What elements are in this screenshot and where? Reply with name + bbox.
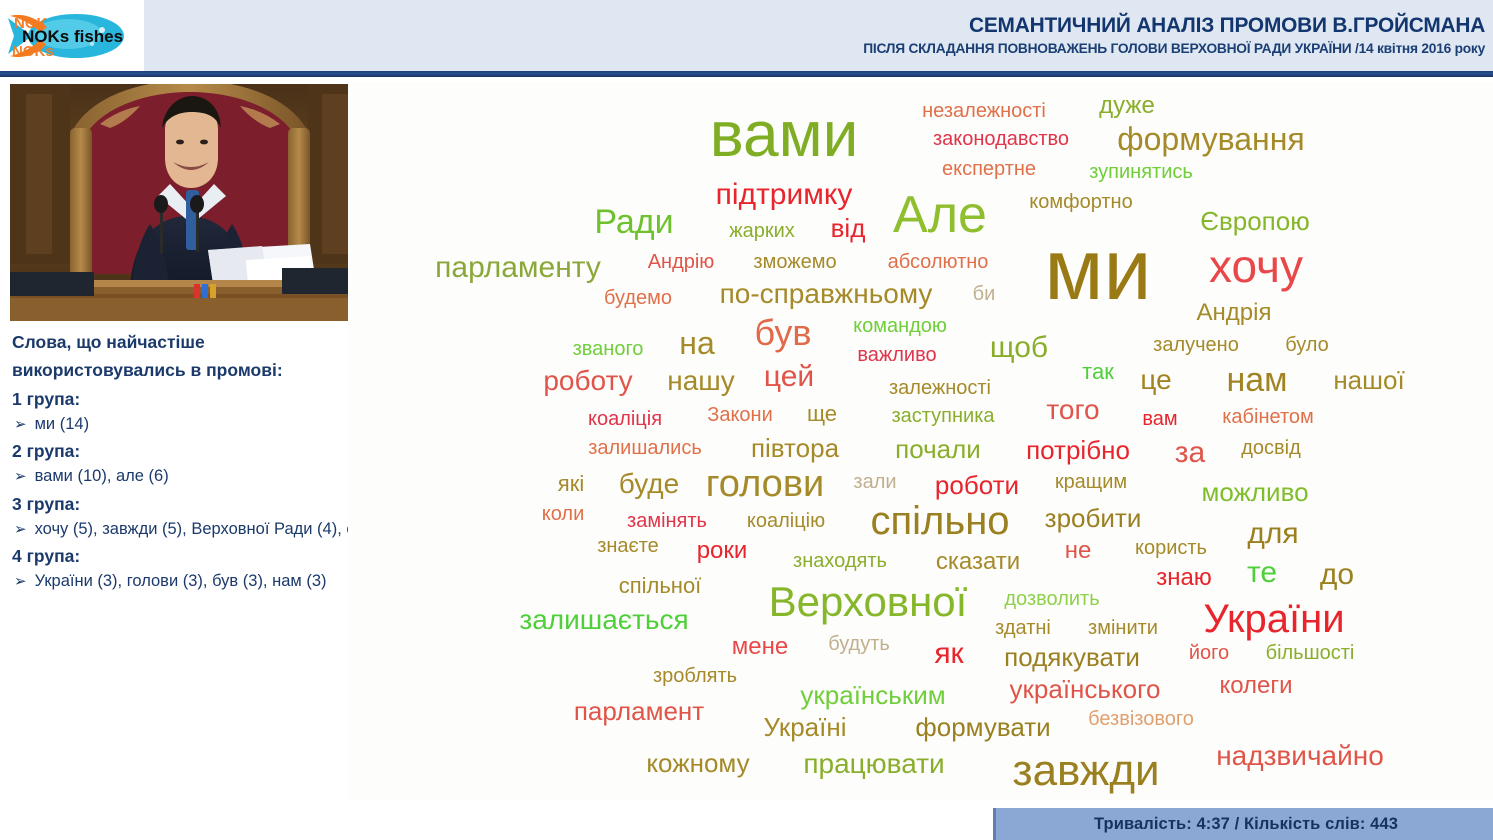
cloud-word: будуть: [828, 634, 890, 654]
footer-stats-text: Тривалість: 4:37 / Кількість слів: 443: [1094, 815, 1398, 834]
cloud-word: безвізового: [1088, 709, 1194, 729]
cloud-word: залишається: [519, 606, 688, 634]
speaker-photo-image: [10, 84, 368, 321]
cloud-word: коаліцію: [747, 511, 825, 531]
cloud-word: було: [1285, 335, 1329, 355]
cloud-word: більшості: [1266, 643, 1355, 663]
cloud-word: завжди: [1012, 749, 1159, 793]
cloud-word: командою: [853, 316, 947, 336]
cloud-word: би: [973, 284, 996, 304]
footer-stats-bar: Тривалість: 4:37 / Кількість слів: 443: [993, 808, 1493, 840]
cloud-word: важливо: [857, 345, 936, 365]
cloud-word: зали: [853, 472, 896, 492]
cloud-word: від: [831, 215, 866, 241]
cloud-word: хочу: [1209, 243, 1303, 289]
cloud-word: зробити: [1045, 505, 1142, 531]
cloud-word: почали: [895, 436, 981, 462]
cloud-word: ще: [807, 403, 837, 425]
cloud-word: голови: [706, 465, 824, 503]
cloud-word: підтримку: [716, 180, 853, 210]
header-divider: [0, 71, 1493, 77]
page-header: NOK NOKs NOKs fishes СЕМАНТИЧНИЙ АНАЛІЗ …: [0, 0, 1493, 71]
cloud-word: зможемо: [753, 252, 836, 272]
bullet-arrow-icon: ➢: [14, 520, 27, 540]
cloud-word: колеги: [1219, 674, 1292, 698]
cloud-word: можливо: [1201, 479, 1308, 505]
cloud-word: заступника: [891, 406, 994, 426]
cloud-word: парламенту: [435, 253, 601, 283]
word-cloud: мивамиАлехочузавждиВерховноїспільноУкраї…: [348, 82, 1493, 800]
cloud-word: які: [558, 473, 584, 495]
cloud-word: коаліція: [588, 409, 662, 429]
cloud-word: спільної: [619, 575, 702, 597]
cloud-word: дозволить: [1004, 589, 1099, 609]
cloud-word: залежності: [889, 378, 991, 398]
logo-wordmark: NOKs fishes: [22, 27, 123, 46]
cloud-word: вами: [710, 102, 859, 166]
cloud-word: України: [1203, 599, 1344, 639]
cloud-word: Україні: [763, 714, 846, 740]
cloud-word: сказати: [936, 550, 1020, 574]
cloud-word: щоб: [990, 333, 1048, 363]
bullet-arrow-icon: ➢: [14, 572, 27, 592]
cloud-word: парламент: [574, 698, 704, 724]
cloud-word: подякувати: [1004, 644, 1140, 670]
cloud-word: надзвичайно: [1216, 742, 1384, 770]
cloud-word: Європою: [1200, 208, 1309, 234]
cloud-word: до: [1320, 560, 1354, 590]
cloud-word: залучено: [1153, 335, 1239, 355]
cloud-word: званого: [573, 339, 644, 359]
cloud-word: зупинятись: [1089, 162, 1193, 182]
cloud-word: зроблять: [653, 666, 737, 686]
cloud-word: це: [1140, 366, 1171, 394]
cloud-word: експертне: [942, 159, 1036, 179]
cloud-word: кожному: [646, 750, 749, 776]
cloud-word: здатні: [995, 618, 1051, 638]
cloud-word: жарких: [729, 221, 795, 241]
page-title: СЕМАНТИЧНИЙ АНАЛІЗ ПРОМОВИ В.ГРОЙСМАНА: [969, 14, 1485, 37]
cloud-word: Андрію: [648, 252, 715, 272]
cloud-word: на: [679, 327, 714, 359]
noks-fishes-logo-icon: NOK NOKs NOKs fishes: [6, 6, 138, 66]
cloud-word: Андрія: [1197, 301, 1272, 325]
cloud-word: знаєте: [597, 536, 659, 556]
cloud-word: потрібно: [1026, 437, 1130, 463]
cloud-word: формування: [1117, 123, 1304, 155]
cloud-word: буде: [619, 470, 679, 498]
group-1-item-text: ми (14): [35, 414, 90, 435]
cloud-word: роботи: [935, 472, 1019, 498]
cloud-word: роки: [697, 539, 748, 563]
logo: NOK NOKs NOKs fishes: [0, 0, 144, 71]
cloud-word: нам: [1226, 363, 1287, 397]
cloud-word: змінити: [1088, 618, 1158, 638]
cloud-word: дуже: [1099, 94, 1155, 118]
bullet-arrow-icon: ➢: [14, 415, 27, 435]
cloud-word: не: [1065, 539, 1092, 563]
cloud-word: для: [1247, 519, 1298, 549]
cloud-word: так: [1082, 361, 1114, 383]
header-text-block: СЕМАНТИЧНИЙ АНАЛІЗ ПРОМОВИ В.ГРОЙСМАНА П…: [150, 0, 1489, 71]
cloud-word: кабінетом: [1222, 407, 1314, 427]
cloud-word: досвід: [1241, 438, 1301, 458]
cloud-word: по-справжньому: [720, 280, 933, 308]
cloud-word: абсолютно: [888, 252, 989, 272]
cloud-word: будемо: [604, 288, 672, 308]
group-4-item-text: України (3), голови (3), був (3), нам (3…: [35, 571, 327, 592]
cloud-word: нашої: [1333, 367, 1404, 393]
group-2-item-text: вами (10), але (6): [35, 466, 169, 487]
cloud-word: Ради: [594, 205, 673, 239]
cloud-word: був: [755, 315, 812, 351]
cloud-word: Але: [893, 189, 987, 241]
cloud-word: кращим: [1055, 472, 1127, 492]
cloud-word: того: [1046, 396, 1099, 424]
cloud-word: залишались: [588, 438, 702, 458]
cloud-word: Закони: [707, 405, 773, 425]
cloud-word: півтора: [751, 435, 839, 461]
cloud-word: працювати: [803, 750, 944, 778]
cloud-word: замінять: [627, 511, 707, 531]
cloud-word: комфортно: [1029, 192, 1132, 212]
cloud-word: законодавство: [933, 129, 1069, 149]
cloud-word: українського: [1010, 676, 1161, 702]
cloud-word: знаходять: [793, 551, 887, 571]
cloud-word: спільно: [870, 501, 1009, 541]
cloud-word: те: [1247, 558, 1277, 588]
cloud-word: роботу: [543, 367, 632, 395]
cloud-word: мене: [732, 635, 788, 659]
word-cloud-panel: мивамиАлехочузавждиВерховноїспільноУкраї…: [348, 82, 1493, 800]
cloud-word: нашу: [667, 367, 735, 395]
cloud-word: вам: [1142, 409, 1177, 429]
cloud-word: за: [1175, 438, 1205, 468]
cloud-word: знаю: [1156, 566, 1212, 590]
cloud-word: цей: [764, 362, 814, 392]
cloud-word: користь: [1135, 538, 1207, 558]
cloud-word: як: [934, 639, 963, 669]
cloud-word: його: [1189, 643, 1229, 663]
cloud-word: ми: [1044, 227, 1151, 313]
cloud-word: українським: [800, 682, 945, 708]
page-subtitle: ПІСЛЯ СКЛАДАННЯ ПОВНОВАЖЕНЬ ГОЛОВИ ВЕРХО…: [863, 42, 1485, 57]
cloud-word: Верховної: [769, 581, 968, 623]
cloud-word: незалежності: [922, 101, 1046, 121]
bullet-arrow-icon: ➢: [14, 467, 27, 487]
speaker-photo: [10, 84, 368, 321]
cloud-word: коли: [542, 504, 585, 524]
cloud-word: формувати: [915, 714, 1050, 740]
